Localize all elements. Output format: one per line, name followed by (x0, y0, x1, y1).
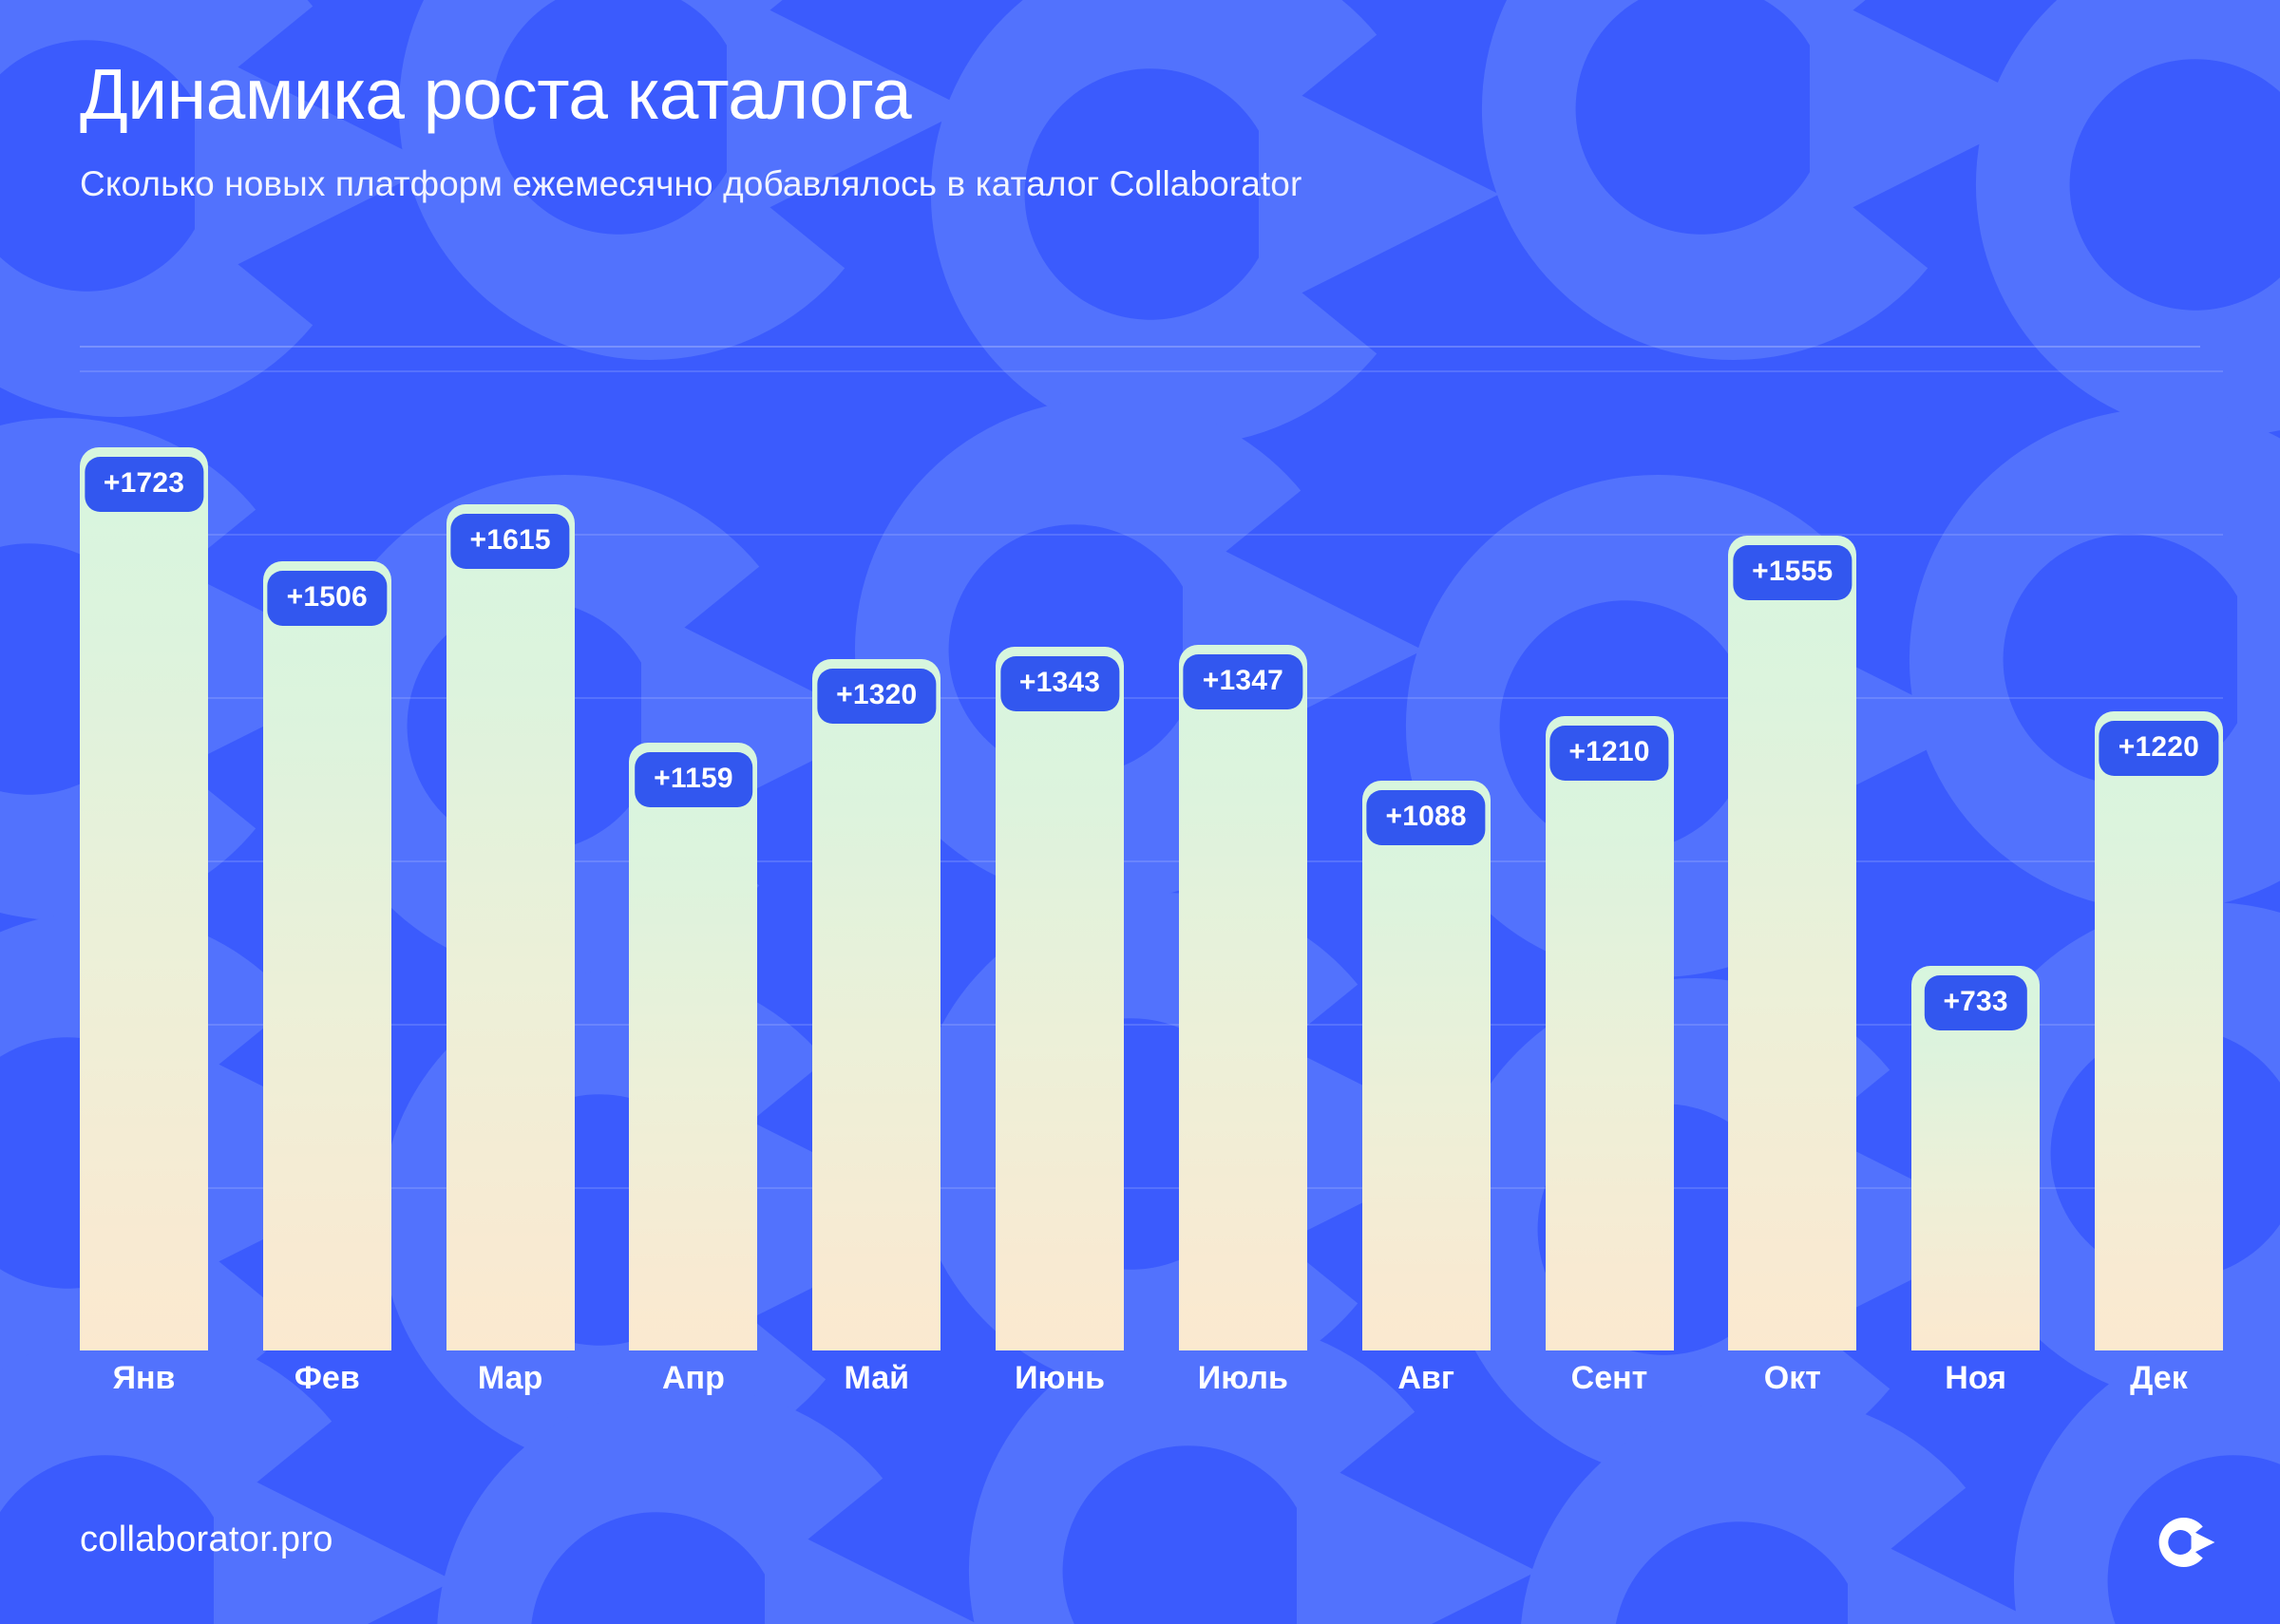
bar-slot: +1555 (1728, 370, 1856, 1350)
x-axis-tick-7: Авг (1362, 1360, 1491, 1397)
bar-value-label: +1555 (1733, 545, 1852, 600)
infographic-canvas: Динамика роста каталога Сколько новых пл… (0, 0, 2280, 1624)
bar-value-label: +1723 (85, 457, 203, 512)
bar-value-label: +1088 (1367, 790, 1486, 845)
x-axis-tick-3: Апр (629, 1360, 757, 1397)
bar-series: +1723+1506+1615+1159+1320+1343+1347+1088… (80, 370, 2223, 1350)
bar-slot: +1347 (1179, 370, 1307, 1350)
bar-slot: +1220 (2095, 370, 2223, 1350)
bar-value-label: +1506 (268, 571, 387, 626)
bar[interactable]: +733 (1911, 966, 2040, 1350)
bar[interactable]: +1220 (2095, 711, 2223, 1350)
page-subtitle: Сколько новых платформ ежемесячно добавл… (80, 164, 2200, 204)
x-axis-tick-11: Дек (2095, 1360, 2223, 1397)
bar-value-label: +1347 (1184, 654, 1302, 709)
header-divider (80, 346, 2200, 348)
page-title: Динамика роста каталога (80, 57, 2200, 132)
x-axis-tick-1: Фев (263, 1360, 391, 1397)
bar[interactable]: +1210 (1546, 716, 1674, 1350)
bar-chart-plot-area: +1723+1506+1615+1159+1320+1343+1347+1088… (80, 370, 2223, 1350)
bar-value-label: +1220 (2099, 721, 2218, 776)
bar[interactable]: +1723 (80, 447, 208, 1350)
bar-slot: +1506 (263, 370, 391, 1350)
bar[interactable]: +1615 (446, 504, 575, 1350)
bar-value-label: +1320 (817, 669, 936, 724)
bar-slot: +1723 (80, 370, 208, 1350)
collaborator-logo-icon (2156, 1518, 2217, 1567)
x-axis-tick-4: Май (812, 1360, 940, 1397)
bar-value-label: +1159 (635, 752, 752, 807)
chart-header: Динамика роста каталога Сколько новых пл… (80, 57, 2200, 204)
bar[interactable]: +1159 (629, 743, 757, 1350)
bar[interactable]: +1343 (996, 647, 1124, 1350)
bar[interactable]: +1320 (812, 659, 940, 1350)
x-axis-tick-labels: ЯнвФевМарАпрМайИюньИюльАвгСентОктНояДек (80, 1360, 2223, 1397)
bar[interactable]: +1347 (1179, 645, 1307, 1350)
bar-value-label: +1615 (450, 514, 569, 569)
bar-slot: +733 (1911, 370, 2040, 1350)
x-axis-tick-10: Ноя (1911, 1360, 2040, 1397)
bar-value-label: +1210 (1549, 726, 1668, 781)
x-axis-tick-5: Июнь (996, 1360, 1124, 1397)
bar[interactable]: +1555 (1728, 536, 1856, 1350)
x-axis-tick-9: Окт (1728, 1360, 1856, 1397)
x-axis-tick-6: Июль (1179, 1360, 1307, 1397)
bar-slot: +1343 (996, 370, 1124, 1350)
x-axis-tick-8: Сент (1546, 1360, 1674, 1397)
bar-slot: +1088 (1362, 370, 1491, 1350)
bar-slot: +1615 (446, 370, 575, 1350)
x-axis-tick-2: Мар (446, 1360, 575, 1397)
bar[interactable]: +1088 (1362, 781, 1491, 1350)
bar-value-label: +1343 (1000, 656, 1119, 711)
x-axis-tick-0: Янв (80, 1360, 208, 1397)
bar-value-label: +733 (1924, 975, 2026, 1030)
footer-website-label: collaborator.pro (80, 1520, 333, 1560)
bar-slot: +1210 (1546, 370, 1674, 1350)
bar-slot: +1320 (812, 370, 940, 1350)
bar-slot: +1159 (629, 370, 757, 1350)
bar[interactable]: +1506 (263, 561, 391, 1350)
